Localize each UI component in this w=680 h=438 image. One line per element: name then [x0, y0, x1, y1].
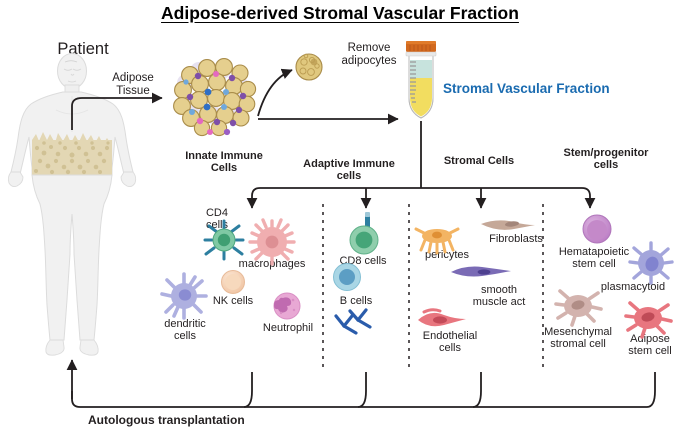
cd8-t-cell-icon — [350, 212, 378, 254]
adipose-stem-cell-icon — [626, 303, 671, 337]
macrophage-icon — [250, 220, 294, 264]
plasmacytoid-cell-icon — [630, 243, 672, 283]
b-cell-icon — [334, 264, 361, 291]
neutrophil-icon — [274, 293, 300, 319]
nk-cell-icon — [222, 271, 245, 294]
distribution-bracket — [252, 121, 590, 208]
pericyte-icon — [407, 229, 458, 254]
mesenchymal-stromal-cell-icon — [556, 291, 601, 325]
diagram-graphics — [0, 0, 680, 438]
antibody-icon — [336, 310, 370, 333]
autologous-transplantation-bracket — [72, 360, 655, 407]
adipose-tissue-cluster — [174, 59, 256, 136]
remove-adipocytes-arrow — [258, 70, 292, 116]
endothelial-cell-icon — [418, 310, 466, 327]
smooth-muscle-cell-icon — [451, 267, 511, 277]
diagram-canvas: Adipose-derived Stromal Vascular Fractio… — [0, 0, 680, 438]
cd4-t-cell-icon — [205, 221, 243, 259]
removed-adipocyte-icon — [296, 54, 322, 80]
centrifuge-tube-icon — [406, 41, 436, 118]
hematopoietic-stem-cell-icon — [583, 215, 611, 243]
dendritic-cell-icon — [162, 274, 206, 318]
fibroblast-icon — [481, 220, 535, 229]
